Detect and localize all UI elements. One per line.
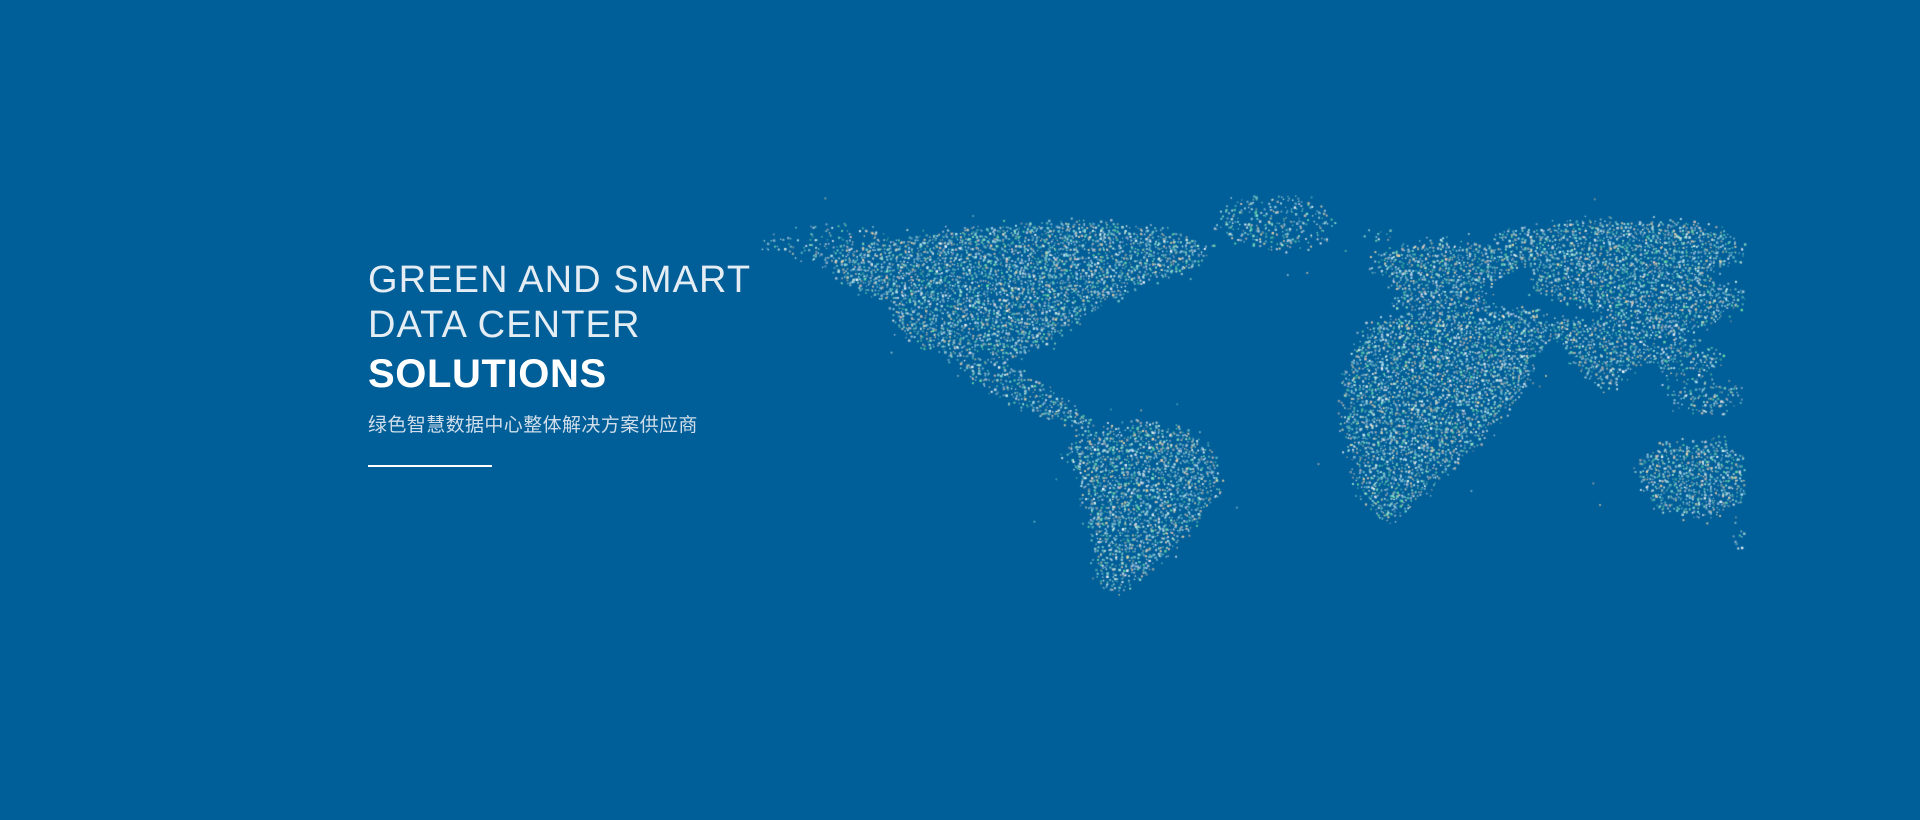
world-map-graphic: [0, 0, 1920, 820]
headline-line-3: SOLUTIONS: [368, 349, 928, 399]
dotted-world-map-canvas: [0, 0, 1920, 820]
subheadline: 绿色智慧数据中心整体解决方案供应商: [368, 413, 928, 439]
accent-divider: [368, 465, 492, 467]
hero-text-block: GREEN AND SMART DATA CENTER SOLUTIONS 绿色…: [368, 258, 928, 467]
hero-banner: GREEN AND SMART DATA CENTER SOLUTIONS 绿色…: [0, 0, 1920, 820]
headline-line-1: GREEN AND SMART: [368, 258, 928, 303]
headline-line-2: DATA CENTER: [368, 303, 928, 348]
